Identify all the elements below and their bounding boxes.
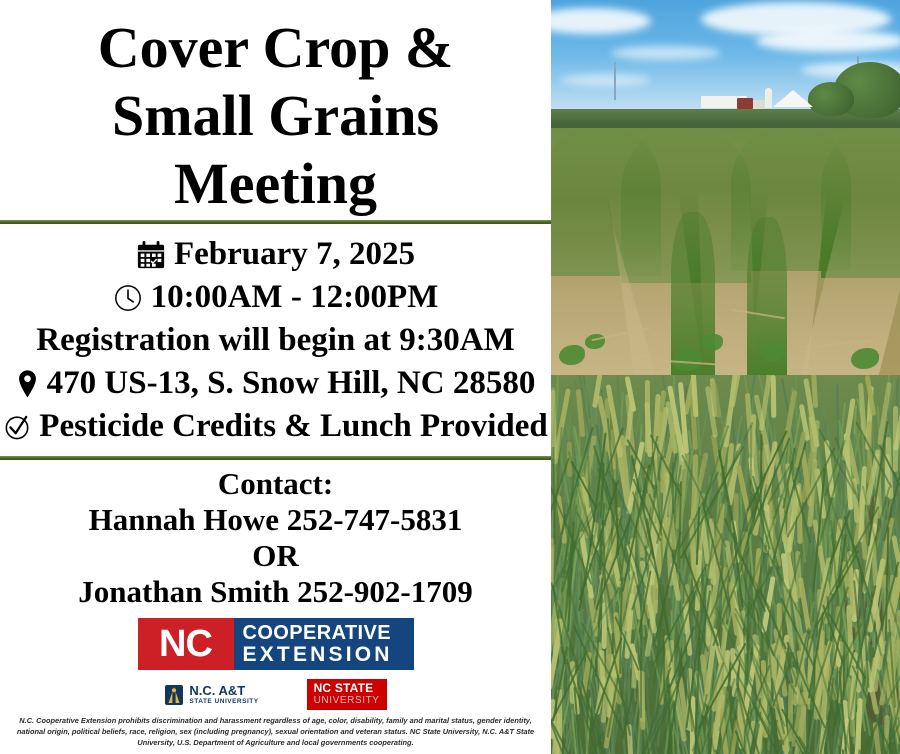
- partner-logos: N.C. A&T STATE UNIVERSITY NC STATE UNIVE…: [0, 679, 551, 710]
- flyer-photo-column: [551, 0, 900, 754]
- contact-heading: Contact:: [4, 466, 547, 502]
- nc-at-state-university-logo: N.C. A&T STATE UNIVERSITY: [164, 684, 258, 706]
- contact-person-one: Hannah Howe 252-747-5831: [4, 502, 547, 538]
- nc-logo-cooperative-text: COOPERATIVE: [243, 623, 392, 644]
- flyer-left-column: Cover Crop & Small Grains Meeting: [0, 0, 551, 754]
- soybean-cover-crop-field-photo: [551, 0, 900, 375]
- flyer: Cover Crop & Small Grains Meeting: [0, 0, 900, 754]
- nc-logo-nc-text: NC: [159, 625, 212, 663]
- nc-at-aggie-emblem-icon: [164, 684, 184, 706]
- green-wheat-field-photo: [551, 375, 900, 754]
- detail-row-address: 470 US-13, S. Snow Hill, NC 28580: [4, 362, 547, 405]
- title-line-2: Small Grains: [8, 82, 543, 150]
- detail-row-date: February 7, 2025: [4, 233, 547, 276]
- nc-state-logo-line2: UNIVERSITY: [314, 695, 380, 706]
- nc-at-logo-line1: N.C. A&T: [189, 684, 258, 697]
- map-pin-icon: [16, 369, 39, 399]
- nc-at-logo-line2: STATE UNIVERSITY: [189, 697, 258, 706]
- extension-logo-wrap: NC COOPERATIVE EXTENSION: [0, 618, 551, 670]
- nc-logo-red-block: NC: [138, 618, 234, 670]
- detail-row-registration: Registration will begin at 9:30AM: [4, 319, 547, 362]
- detail-text-credits: Pesticide Credits & Lunch Provided: [39, 405, 547, 448]
- contact-person-two: Jonathan Smith 252-902-1709: [4, 574, 547, 610]
- detail-row-credits: Pesticide Credits & Lunch Provided: [4, 405, 547, 448]
- nc-logo-blue-block: COOPERATIVE EXTENSION: [234, 618, 414, 670]
- detail-text-registration: Registration will begin at 9:30AM: [36, 319, 514, 362]
- soybean-field: [551, 128, 900, 376]
- nc-state-logo-line1: NC STATE: [314, 682, 380, 695]
- calendar-icon: [136, 240, 166, 270]
- nc-cooperative-extension-logo: NC COOPERATIVE EXTENSION: [138, 618, 414, 670]
- detail-text-date: February 7, 2025: [174, 233, 415, 276]
- detail-text-address: 470 US-13, S. Snow Hill, NC 28580: [47, 362, 536, 405]
- title-line-3: Meeting: [8, 150, 543, 218]
- check-circle-icon: [3, 413, 31, 441]
- contact-block: Contact: Hannah Howe 252-747-5831 OR Jon…: [0, 460, 551, 612]
- detail-row-time: 10:00AM - 12:00PM: [4, 276, 547, 319]
- event-details: February 7, 2025 10:00AM - 12:00PM Regis…: [0, 224, 551, 456]
- detail-text-time: 10:00AM - 12:00PM: [151, 276, 439, 319]
- clock-icon: [113, 283, 143, 313]
- title-line-1: Cover Crop &: [8, 14, 543, 82]
- nondiscrimination-disclaimer: N.C. Cooperative Extension prohibits dis…: [0, 715, 551, 748]
- nc-logo-extension-text: EXTENSION: [243, 644, 393, 666]
- nc-at-logo-text: N.C. A&T STATE UNIVERSITY: [189, 684, 258, 706]
- contact-separator: OR: [4, 538, 547, 574]
- page-title: Cover Crop & Small Grains Meeting: [0, 0, 551, 220]
- nc-state-university-logo: NC STATE UNIVERSITY: [307, 679, 387, 710]
